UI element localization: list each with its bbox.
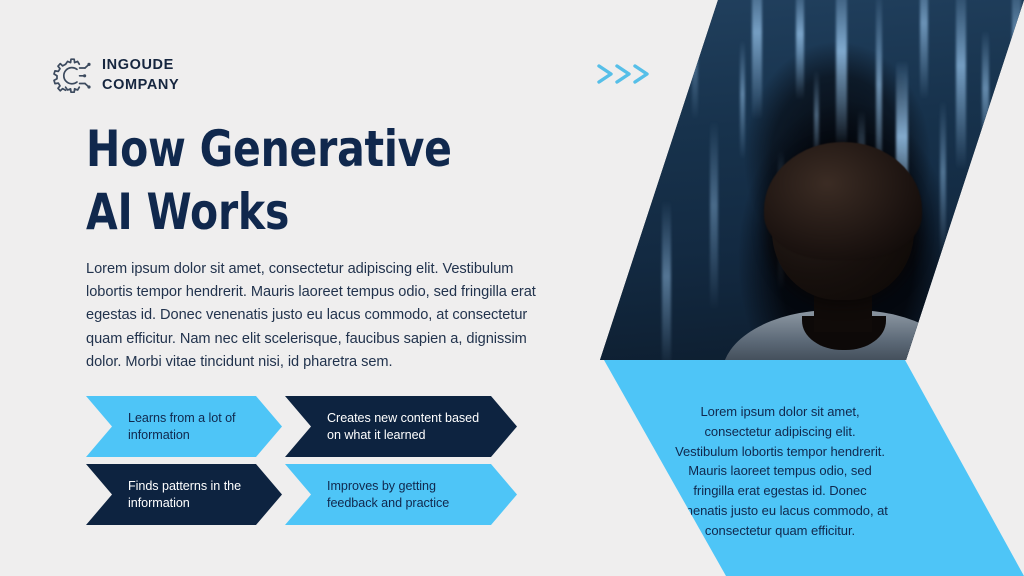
brand-logo: INGOUDE COMPANY <box>48 56 179 96</box>
page-title: How Generative AI Works <box>86 118 463 244</box>
process-step-1[interactable]: Learns from a lot of information <box>86 396 282 457</box>
slide-canvas: INGOUDE COMPANY How Generative AI Works … <box>0 0 1024 576</box>
caption-panel: Lorem ipsum dolor sit amet, consectetur … <box>600 360 1024 576</box>
silhouette-hair <box>764 142 922 260</box>
process-step-4-label: Improves by getting feedback and practic… <box>285 478 517 511</box>
page-title-line1: How Generative <box>86 118 463 181</box>
triple-chevron-right-icon <box>593 58 657 90</box>
lead-paragraph: Lorem ipsum dolor sit amet, consectetur … <box>86 258 548 374</box>
brand-name-line1: INGOUDE <box>102 56 179 76</box>
person-silhouette <box>728 150 958 360</box>
brand-name-line2: COMPANY <box>102 76 179 96</box>
process-step-3-label: Finds patterns in the information <box>86 478 282 511</box>
process-row-2: Finds patterns in the information Improv… <box>86 464 517 525</box>
gear-circuit-icon <box>48 56 92 96</box>
process-step-4[interactable]: Improves by getting feedback and practic… <box>285 464 517 525</box>
process-step-3[interactable]: Finds patterns in the information <box>86 464 282 525</box>
process-chevrons: Learns from a lot of information Creates… <box>86 396 517 532</box>
caption-text: Lorem ipsum dolor sit amet, consectetur … <box>672 402 888 540</box>
hero-photo <box>600 0 1024 360</box>
process-row-1: Learns from a lot of information Creates… <box>86 396 517 457</box>
brand-name: INGOUDE COMPANY <box>102 56 179 95</box>
hero-photo-background <box>600 0 1024 360</box>
process-step-2[interactable]: Creates new content based on what it lea… <box>285 396 517 457</box>
page-title-line2: AI Works <box>86 181 463 244</box>
process-step-2-label: Creates new content based on what it lea… <box>285 410 517 443</box>
process-step-1-label: Learns from a lot of information <box>86 410 282 443</box>
